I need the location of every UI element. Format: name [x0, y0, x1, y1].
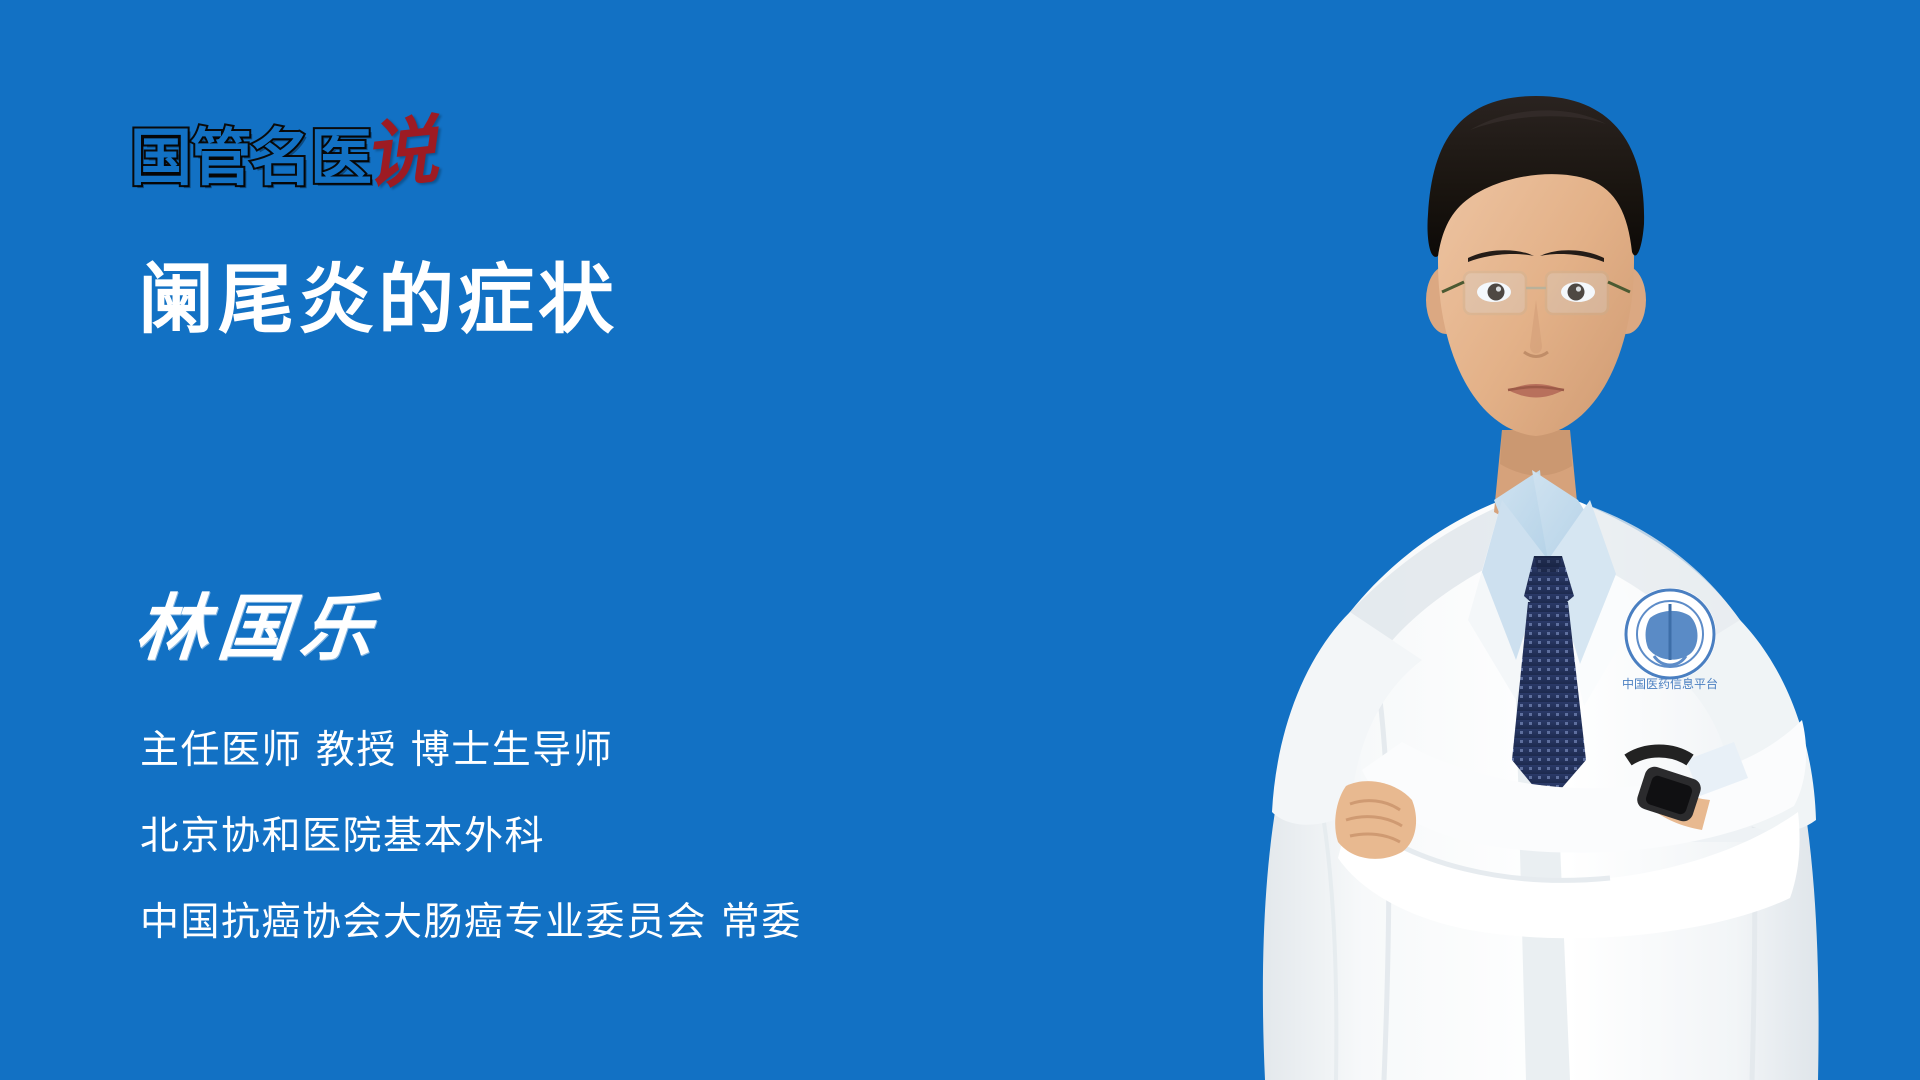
- credential-line-association: 中国抗癌协会大肠癌专业委员会 常委: [140, 900, 802, 946]
- content-panel: 国管名医 说 阑尾炎的症状 林国乐 主任医师 教授 博士生导师 北京协和医院基本…: [0, 0, 1180, 1080]
- doctor-portrait: 中国医药信息平台: [1050, 0, 1920, 1080]
- program-logo-main-text: 国管名医: [130, 126, 370, 190]
- program-logo-accent-text: 说: [360, 118, 440, 189]
- doctor-name: 林国乐: [133, 588, 386, 668]
- head: [1426, 96, 1646, 436]
- program-logo: 国管名医 说: [130, 104, 438, 190]
- svg-text:中国医药信息平台: 中国医药信息平台: [1622, 676, 1718, 691]
- credential-line-hospital: 北京协和医院基本外科: [140, 814, 802, 860]
- credential-line-title: 主任医师 教授 博士生导师: [140, 728, 802, 774]
- hand: [1335, 781, 1416, 859]
- page-title: 阑尾炎的症状: [138, 254, 618, 346]
- doctor-credentials: 主任医师 教授 博士生导师 北京协和医院基本外科 中国抗癌协会大肠癌专业委员会 …: [140, 728, 802, 946]
